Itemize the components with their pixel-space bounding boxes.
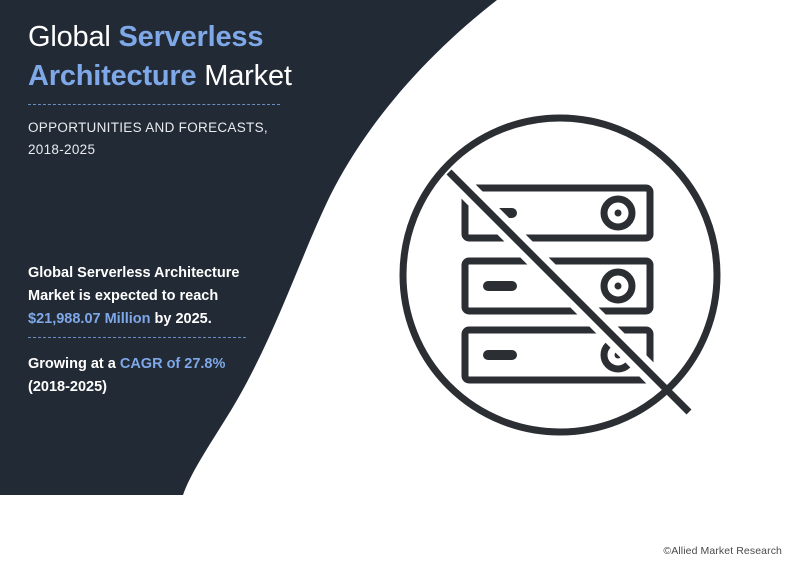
market-value-figure: $21,988.07 Million <box>28 311 151 327</box>
rack-2-slot <box>483 281 517 291</box>
market-value-statement: Global Serverless Architecture Market is… <box>28 262 288 331</box>
no-server-icon <box>395 98 730 458</box>
forecast-period: (2018-2025) <box>28 379 107 395</box>
no-server-icon-graphic <box>395 98 730 458</box>
rack-1-led-dot <box>615 210 622 217</box>
body-line-1: Global Serverless Architecture <box>28 265 239 281</box>
footer-attribution: ©Allied Market Research <box>663 545 782 557</box>
growth-prefix: Growing at a <box>28 356 120 372</box>
subtitle: OPPORTUNITIES AND FORECASTS, 2018-2025 <box>28 117 328 161</box>
title-word-global: Global <box>28 21 119 53</box>
rack-3-led-dot <box>615 352 622 359</box>
page-title: Global Serverless Architecture Market <box>28 18 358 96</box>
server-rack-2 <box>465 261 650 311</box>
body-line-3-tail: by 2025. <box>151 311 212 327</box>
subtitle-line-1: OPPORTUNITIES AND FORECASTS, <box>28 120 268 135</box>
body-divider <box>28 337 246 338</box>
rack-3-slot <box>483 350 517 360</box>
title-word-market: Market <box>196 60 291 92</box>
infographic-canvas: Global Serverless Architecture Market OP… <box>0 0 790 564</box>
body-line-2: Market is expected to reach <box>28 288 218 304</box>
panel-text-content: Global Serverless Architecture Market OP… <box>0 0 400 564</box>
title-word-serverless: Serverless <box>119 21 264 53</box>
circle-outline <box>403 118 717 432</box>
cagr-statement: Growing at a CAGR of 27.8% (2018-2025) <box>28 353 298 399</box>
rack-2-led-dot <box>615 283 622 290</box>
server-rack-3 <box>465 330 650 380</box>
title-word-architecture: Architecture <box>28 60 196 92</box>
cagr-figure: CAGR of 27.8% <box>120 356 226 372</box>
subtitle-line-2: 2018-2025 <box>28 142 95 157</box>
title-divider <box>28 104 280 105</box>
